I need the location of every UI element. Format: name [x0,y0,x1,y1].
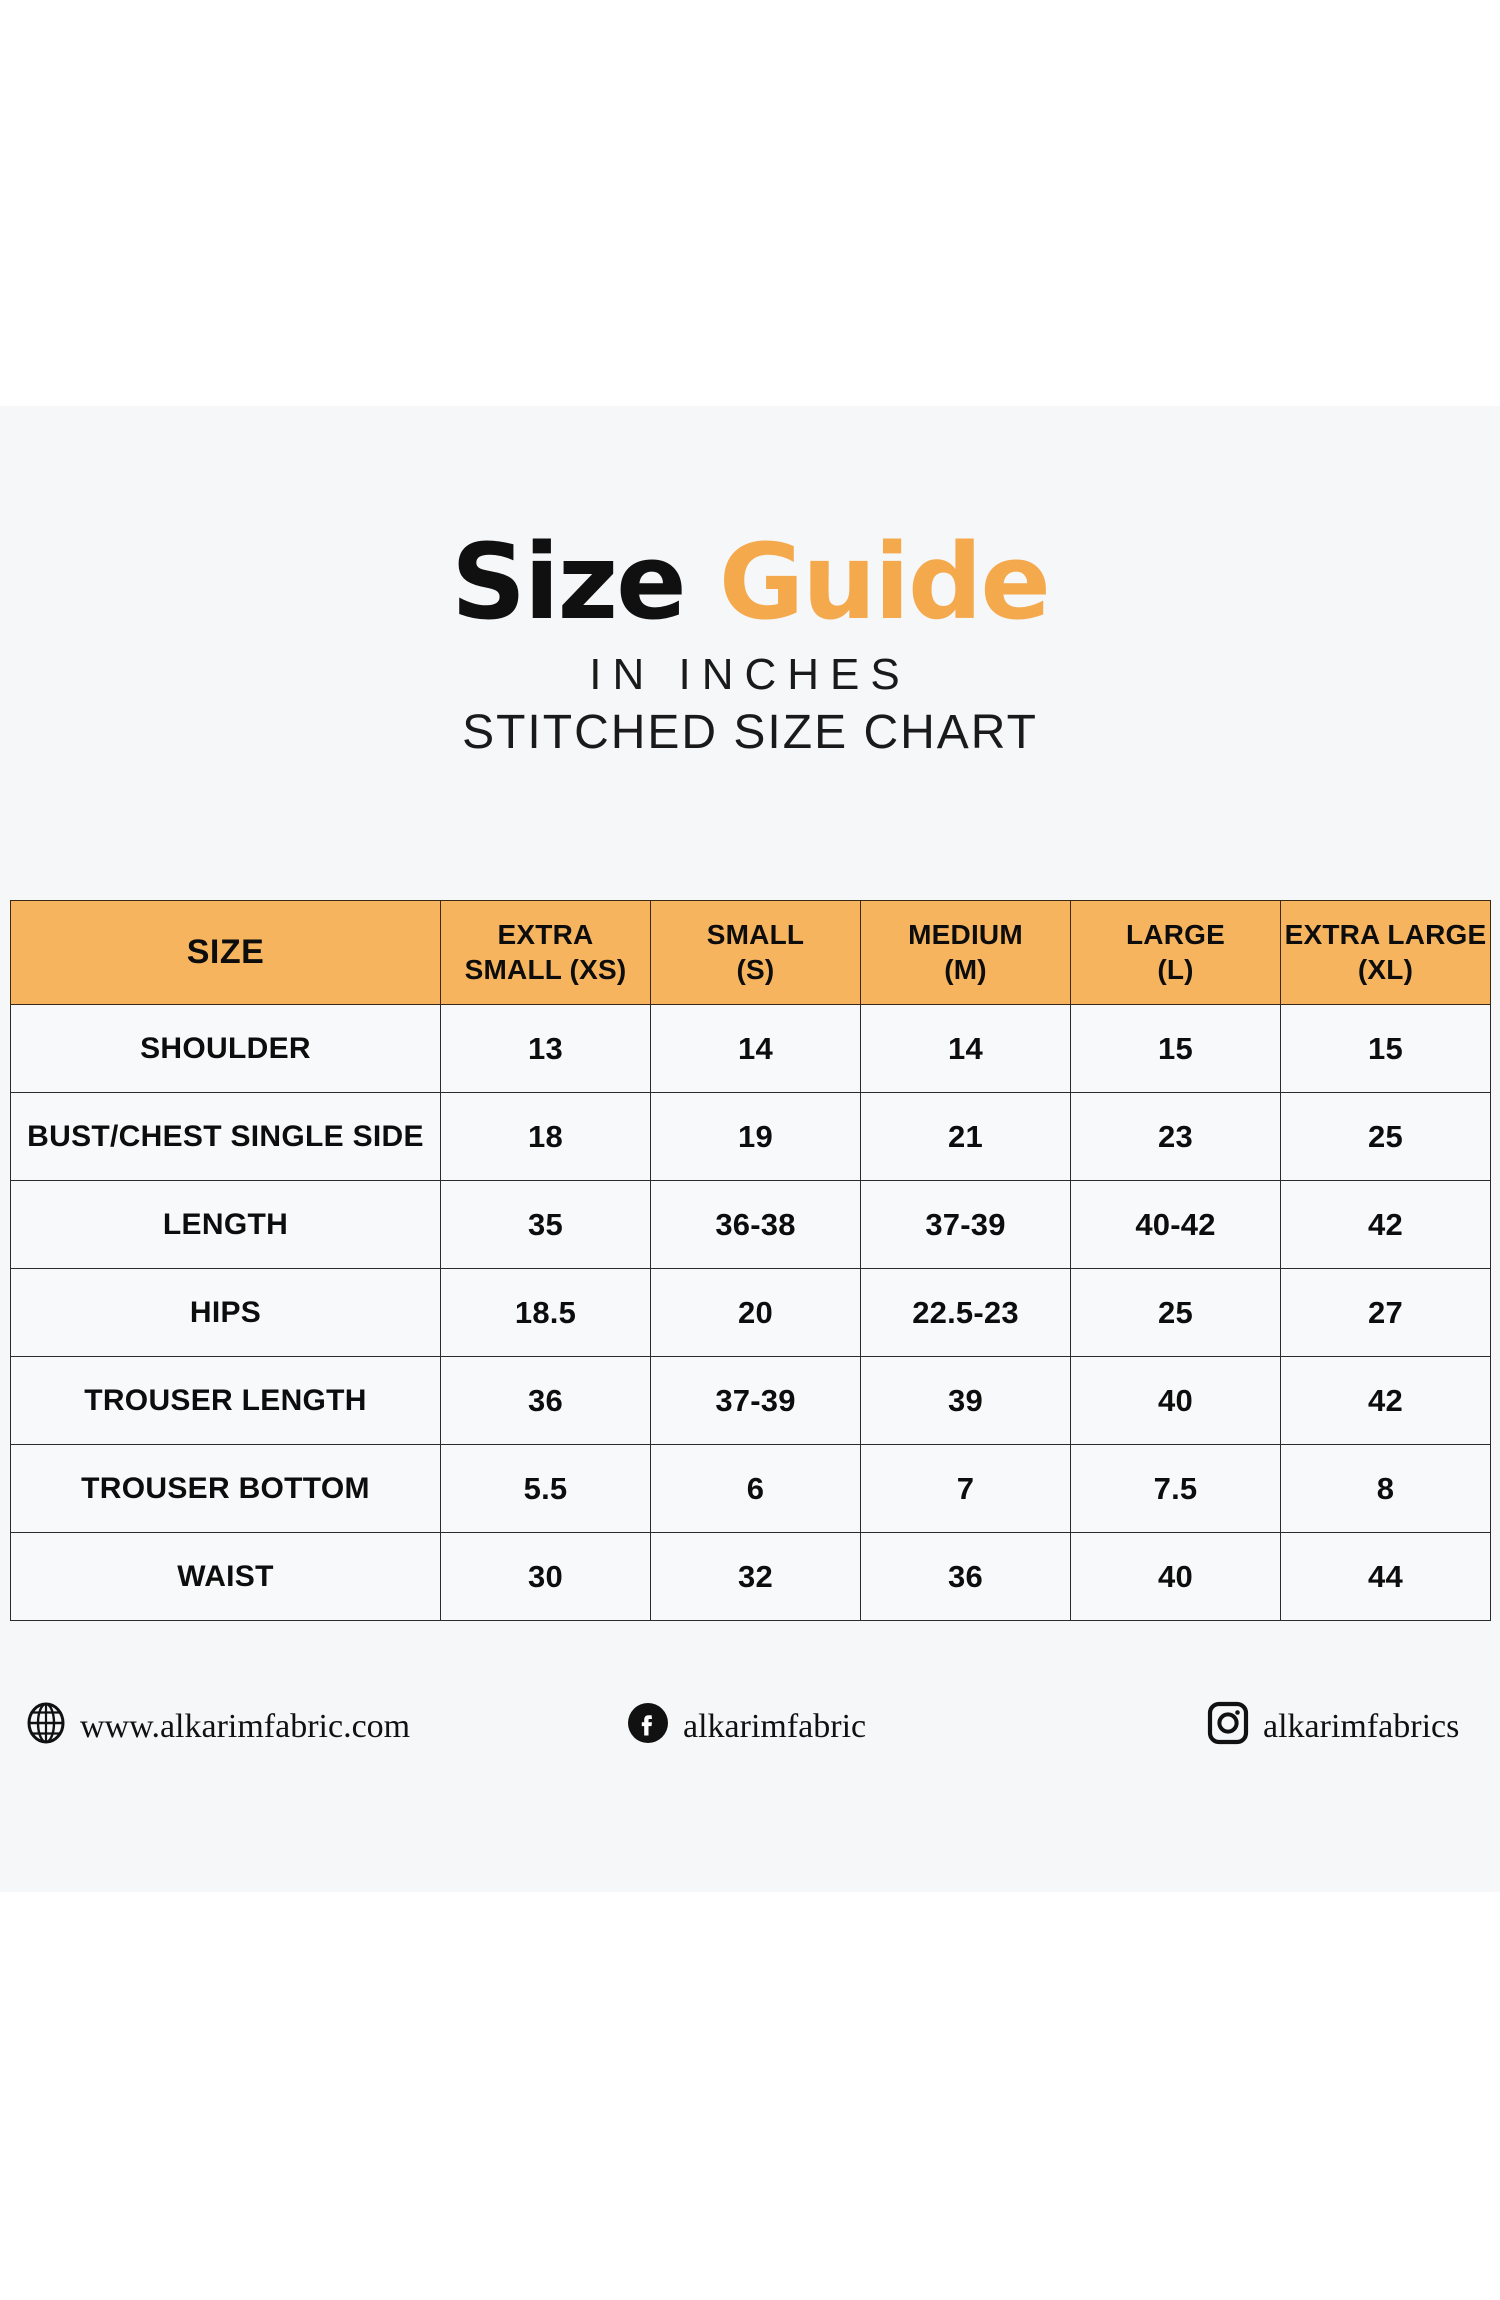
column-header-size-label: SIZE [187,933,265,971]
cell-length-m: 37-39 [861,1181,1071,1269]
row-label-hips: HIPS [11,1269,441,1357]
row-label-bust-chest: BUST/CHEST SINGLE SIDE [11,1093,441,1181]
footer-instagram-label: alkarimfabrics [1263,1710,1459,1744]
cell-trouser-bottom-l: 7.5 [1071,1445,1281,1533]
column-header-s: SMALL (S) [651,901,861,1005]
page-title-accent: Guide [719,521,1049,643]
cell-hips-s: 20 [651,1269,861,1357]
cell-waist-xs: 30 [441,1533,651,1621]
cell-trouser-length-s: 37-39 [651,1357,861,1445]
cell-trouser-bottom-xl: 8 [1281,1445,1491,1533]
table-header-row: SIZE EXTRA SMALL (XS) SMALL (S) MEDIUM (… [11,901,1491,1005]
cell-bust-xs: 18 [441,1093,651,1181]
page-subtitle-secondary: STITCHED SIZE CHART [0,708,1500,758]
column-header-l: LARGE (L) [1071,901,1281,1005]
cell-trouser-length-m: 39 [861,1357,1071,1445]
table-row: HIPS 18.5 20 22.5-23 25 27 [11,1269,1491,1357]
cell-waist-m: 36 [861,1533,1071,1621]
cell-hips-xs: 18.5 [441,1269,651,1357]
cell-trouser-bottom-s: 6 [651,1445,861,1533]
cell-length-s: 36-38 [651,1181,861,1269]
cell-shoulder-l: 15 [1071,1005,1281,1093]
column-header-xs-line1: EXTRA [498,919,594,950]
cell-length-xs: 35 [441,1181,651,1269]
cell-shoulder-xs: 13 [441,1005,651,1093]
column-header-l-line1: LARGE [1126,919,1225,950]
row-label-waist: WAIST [11,1533,441,1621]
cell-trouser-bottom-m: 7 [861,1445,1071,1533]
column-header-m-line1: MEDIUM [908,919,1023,950]
column-header-xl-line2: (XL) [1281,953,1490,987]
column-header-s-line2: (S) [651,953,860,987]
footer-website[interactable]: www.alkarimfabric.com [26,1702,410,1753]
column-header-s-line1: SMALL [707,919,804,950]
cell-trouser-bottom-xs: 5.5 [441,1445,651,1533]
column-header-xs-line2: SMALL (XS) [441,953,650,987]
cell-shoulder-m: 14 [861,1005,1071,1093]
cell-bust-s: 19 [651,1093,861,1181]
instagram-icon [1207,1701,1249,1754]
cell-hips-l: 25 [1071,1269,1281,1357]
table-row: WAIST 30 32 36 40 44 [11,1533,1491,1621]
row-label-trouser-length: TROUSER LENGTH [11,1357,441,1445]
table-body: SHOULDER 13 14 14 15 15 BUST/CHEST SINGL… [11,1005,1491,1621]
size-chart-table-wrapper: SIZE EXTRA SMALL (XS) SMALL (S) MEDIUM (… [10,900,1490,1621]
column-header-m-line2: (M) [861,953,1070,987]
cell-trouser-length-xs: 36 [441,1357,651,1445]
row-label-trouser-bottom: TROUSER BOTTOM [11,1445,441,1533]
footer: www.alkarimfabric.com alkarimfabric alka… [0,1672,1500,1782]
column-header-xs: EXTRA SMALL (XS) [441,901,651,1005]
cell-trouser-length-xl: 42 [1281,1357,1491,1445]
cell-shoulder-xl: 15 [1281,1005,1491,1093]
cell-waist-xl: 44 [1281,1533,1491,1621]
cell-trouser-length-l: 40 [1071,1357,1281,1445]
table-row: LENGTH 35 36-38 37-39 40-42 42 [11,1181,1491,1269]
size-guide-page: Size Guide IN INCHES STITCHED SIZE CHART… [0,0,1500,2300]
row-label-length: LENGTH [11,1181,441,1269]
column-header-xl: EXTRA LARGE (XL) [1281,901,1491,1005]
footer-facebook[interactable]: alkarimfabric [627,1702,866,1753]
cell-length-xl: 42 [1281,1181,1491,1269]
footer-facebook-label: alkarimfabric [683,1710,866,1744]
row-label-shoulder: SHOULDER [11,1005,441,1093]
column-header-size: SIZE [11,901,441,1005]
cell-hips-m: 22.5-23 [861,1269,1071,1357]
cell-length-l: 40-42 [1071,1181,1281,1269]
table-row: TROUSER LENGTH 36 37-39 39 40 42 [11,1357,1491,1445]
table-row: TROUSER BOTTOM 5.5 6 7 7.5 8 [11,1445,1491,1533]
size-chart-table: SIZE EXTRA SMALL (XS) SMALL (S) MEDIUM (… [10,900,1491,1621]
table-header: SIZE EXTRA SMALL (XS) SMALL (S) MEDIUM (… [11,901,1491,1005]
cell-waist-s: 32 [651,1533,861,1621]
table-row: SHOULDER 13 14 14 15 15 [11,1005,1491,1093]
title-block: Size Guide IN INCHES STITCHED SIZE CHART [0,530,1500,759]
page-subtitle: IN INCHES [0,652,1500,698]
cell-bust-l: 23 [1071,1093,1281,1181]
page-title-dark: Size [451,521,685,643]
column-header-xl-line1: EXTRA LARGE [1285,919,1487,950]
page-title: Size Guide [0,530,1500,634]
title-space [685,521,719,643]
facebook-icon [627,1702,669,1753]
cell-shoulder-s: 14 [651,1005,861,1093]
cell-waist-l: 40 [1071,1533,1281,1621]
footer-instagram[interactable]: alkarimfabrics [1207,1701,1459,1754]
table-row: BUST/CHEST SINGLE SIDE 18 19 21 23 25 [11,1093,1491,1181]
cell-bust-xl: 25 [1281,1093,1491,1181]
globe-icon [26,1702,66,1753]
footer-website-label: www.alkarimfabric.com [80,1710,410,1744]
cell-bust-m: 21 [861,1093,1071,1181]
column-header-m: MEDIUM (M) [861,901,1071,1005]
column-header-l-line2: (L) [1071,953,1280,987]
cell-hips-xl: 27 [1281,1269,1491,1357]
